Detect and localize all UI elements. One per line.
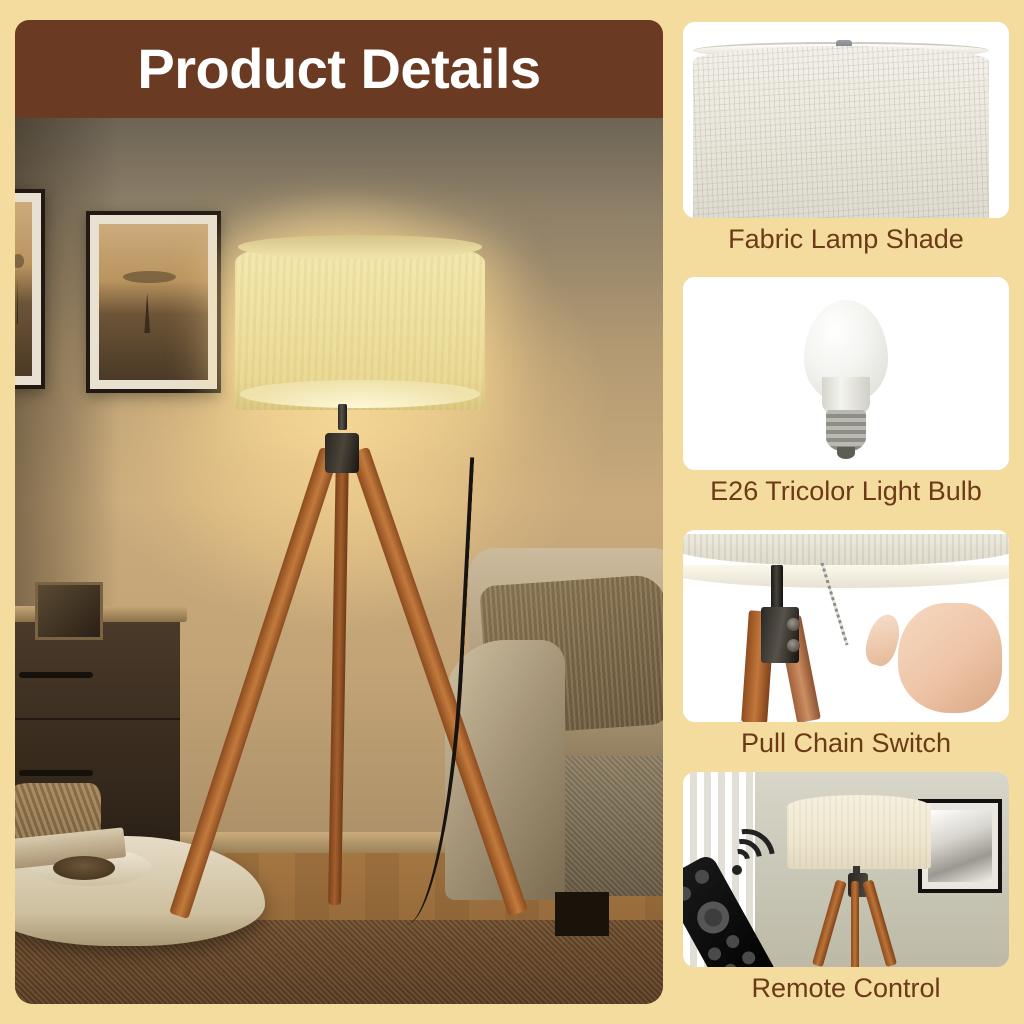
- feature-remote-control: Remote Control: [683, 772, 1009, 1004]
- tripod-floor-lamp: [15, 118, 663, 1004]
- bulb-screw-base: [826, 410, 866, 452]
- lamp-shade: [787, 795, 930, 869]
- bulb-neck: [822, 377, 870, 413]
- pull-chain-switch-image: [683, 530, 1009, 722]
- shade-bottom-edge: [683, 534, 1009, 567]
- feature-image-card: [683, 22, 1009, 218]
- feature-label-remote-control: Remote Control: [683, 967, 1009, 1004]
- switch-hub: [761, 607, 799, 663]
- artwork-image: [928, 810, 992, 882]
- page-title: Product Details: [137, 41, 540, 97]
- shade-linen-fabric: [693, 46, 990, 218]
- remote-button: [705, 945, 723, 963]
- tripod-leg-left: [169, 447, 339, 919]
- feature-label-e26-tricolor-light-bulb: E26 Tricolor Light Bulb: [683, 470, 1009, 507]
- remote-dpad-button: [691, 896, 735, 940]
- remote-button: [692, 867, 711, 886]
- feature-label-pull-chain-switch: Pull Chain Switch: [683, 722, 1009, 759]
- signal-waves-icon: [722, 827, 788, 883]
- lamp-shade-inner-glow: [240, 380, 479, 408]
- header-banner: Product Details: [15, 20, 663, 118]
- fabric-shade-macro-image: [683, 22, 1009, 218]
- hero-product-photo: [15, 118, 663, 1004]
- remote-button: [739, 949, 757, 967]
- feature-list: Fabric Lamp Shade E26 Tricolor Light Bul…: [683, 0, 1009, 1024]
- remote-button: [723, 932, 741, 950]
- remote-button: [721, 961, 739, 967]
- feature-e26-tricolor-light-bulb: E26 Tricolor Light Bulb: [683, 277, 1009, 507]
- lamp-stem: [338, 404, 347, 430]
- feature-label-fabric-lamp-shade: Fabric Lamp Shade: [683, 218, 1009, 255]
- light-bulb-image: [683, 277, 1009, 470]
- feature-fabric-lamp-shade: Fabric Lamp Shade: [683, 22, 1009, 255]
- signal-dot: [732, 865, 742, 875]
- feature-image-card: [683, 530, 1009, 722]
- tripod-leg-center: [328, 450, 349, 905]
- feature-pull-chain-switch: Pull Chain Switch: [683, 530, 1009, 759]
- bulb-contact-tip: [837, 447, 855, 459]
- tripod-hub: [325, 433, 359, 473]
- feature-image-card: [683, 772, 1009, 967]
- remote-control-scene-image: [683, 772, 1009, 967]
- hand: [898, 603, 1002, 713]
- product-details-panel: Product Details: [15, 20, 663, 1004]
- lamp-shade: [235, 238, 484, 411]
- feature-image-card: [683, 277, 1009, 470]
- tripod-leg-left: [812, 880, 847, 967]
- tripod-leg-center: [851, 881, 859, 967]
- lamp-shade-top-rim: [238, 235, 482, 259]
- tripod-leg-right: [863, 880, 898, 967]
- remote-button: [683, 884, 693, 903]
- shade-inner-edge: [683, 565, 1009, 588]
